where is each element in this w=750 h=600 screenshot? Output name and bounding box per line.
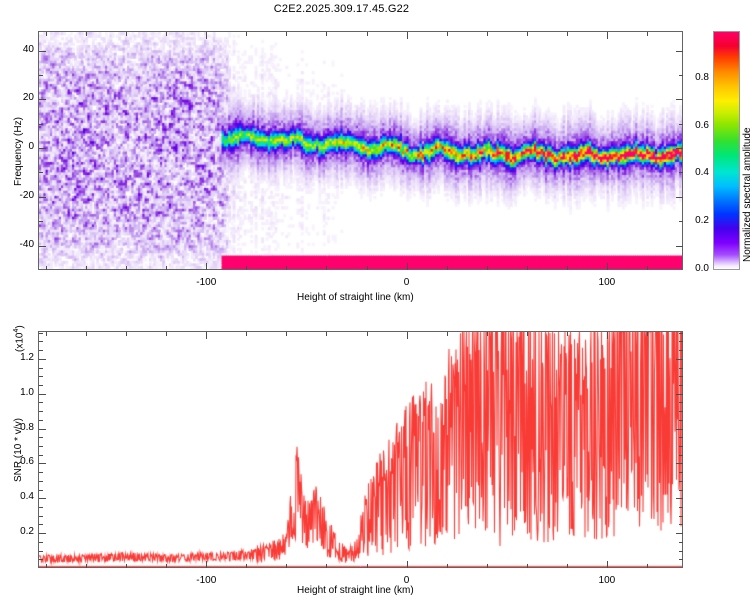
- spectrogram-ytick-left: [39, 221, 43, 222]
- snr-xtick-bottom: [86, 564, 87, 568]
- snr-ytick-left: [39, 463, 46, 464]
- snr-ytick-right: [679, 516, 683, 517]
- snr-xtick-bottom: [166, 564, 167, 568]
- figure-root: C2E2.2025.309.17.45.G22 Frequency (Hz) H…: [0, 0, 750, 600]
- snr-ytick-right: [679, 333, 683, 334]
- snr-xtick-top: [246, 332, 247, 336]
- colorbar-label: Normalized spectral amplitude: [742, 127, 750, 262]
- spectrogram-ytick-label: 20: [0, 92, 34, 103]
- snr-xtick-bottom: [647, 564, 648, 568]
- spectrogram-xtick-top: [647, 32, 648, 36]
- spectrogram-ytick-left: [39, 75, 43, 76]
- spectrogram-ytick-label: 40: [0, 44, 34, 55]
- spectrogram-xtick-bottom: [567, 266, 568, 270]
- snr-xtick-top: [166, 332, 167, 336]
- colorbar-tick-label: 0.8: [681, 72, 709, 83]
- spectrogram-xtick-top: [447, 32, 448, 36]
- snr-xtick-bottom: [206, 561, 207, 568]
- spectrogram-image: [39, 32, 682, 269]
- spectrogram-ytick-label: 0: [0, 141, 34, 152]
- spectrogram-panel: [38, 31, 683, 270]
- spectrogram-ytick-label: -40: [0, 239, 34, 250]
- snr-xtick-top: [126, 332, 127, 336]
- snr-ytick-label: 0.2: [0, 526, 34, 537]
- spectrogram-ytick-left: [39, 197, 46, 198]
- snr-ytick-right: [676, 498, 683, 499]
- spectrogram-ytick-left: [39, 246, 46, 247]
- spectrogram-ytick-right: [676, 246, 683, 247]
- snr-ytick-left: [39, 385, 43, 386]
- snr-xtick-bottom: [286, 564, 287, 568]
- snr-ytick-left: [39, 559, 43, 560]
- snr-ytick-right: [679, 507, 683, 508]
- multiplier-exponent: 4: [13, 329, 20, 333]
- snr-xtick-bottom: [527, 564, 528, 568]
- snr-ytick-left: [39, 472, 43, 473]
- spectrogram-xtick-top: [246, 32, 247, 36]
- multiplier-close: ): [14, 325, 25, 328]
- snr-ytick-left: [39, 507, 43, 508]
- snr-xtick-bottom: [447, 564, 448, 568]
- colorbar-tick-label: 0.0: [681, 263, 709, 274]
- snr-ytick-left: [39, 394, 46, 395]
- spectrogram-xtick-bottom: [126, 266, 127, 270]
- snr-ytick-left: [39, 420, 43, 421]
- spectrogram-ytick-label: -20: [0, 190, 34, 201]
- spectrogram-xtick-bottom: [326, 266, 327, 270]
- spectrogram-xtick-label: -100: [186, 277, 226, 288]
- spectrogram-xtick-label: 100: [587, 277, 627, 288]
- snr-ytick-left: [39, 516, 43, 517]
- snr-ytick-right: [679, 490, 683, 491]
- page-title: C2E2.2025.309.17.45.G22: [0, 3, 683, 15]
- spectrogram-ytick-right: [676, 51, 683, 52]
- snr-ytick-right: [676, 463, 683, 464]
- snr-ytick-left: [39, 437, 43, 438]
- snr-ytick-left: [39, 368, 43, 369]
- spectrogram-ytick-right: [676, 148, 683, 149]
- snr-xtick-bottom: [326, 564, 327, 568]
- snr-ytick-right: [679, 551, 683, 552]
- spectrogram-xtick-top: [286, 32, 287, 36]
- spectrogram-ytick-left: [39, 148, 46, 149]
- snr-trace: [39, 332, 682, 567]
- spectrogram-xtick-top: [206, 32, 207, 39]
- multiplier-base: (x10: [14, 333, 25, 352]
- spectrogram-xtick-top: [367, 32, 368, 36]
- snr-ytick-right: [679, 455, 683, 456]
- spectrogram-xtick-bottom: [46, 266, 47, 270]
- snr-xtick-top: [286, 332, 287, 336]
- snr-xtick-bottom: [246, 564, 247, 568]
- colorbar: [713, 31, 740, 270]
- snr-ytick-left: [39, 446, 43, 447]
- snr-ytick-right: [679, 446, 683, 447]
- snr-xtick-top: [567, 332, 568, 336]
- spectrogram-xtick-top: [407, 32, 408, 39]
- snr-ytick-left: [39, 359, 46, 360]
- snr-ytick-right: [679, 481, 683, 482]
- spectrogram-xtick-top: [326, 32, 327, 36]
- snr-ytick-left: [39, 524, 43, 525]
- spectrogram-xtick-bottom: [166, 266, 167, 270]
- snr-xtick-top: [447, 332, 448, 336]
- spectrogram-ytick-right: [676, 99, 683, 100]
- snr-ytick-left: [39, 429, 46, 430]
- snr-ytick-left: [39, 481, 43, 482]
- snr-ytick-right: [679, 472, 683, 473]
- snr-x-axis-label: Height of straight line (km): [297, 585, 414, 596]
- snr-ytick-label: 0.8: [0, 422, 34, 433]
- spectrogram-xtick-bottom: [447, 266, 448, 270]
- snr-ytick-right: [679, 341, 683, 342]
- spectrogram-xtick-top: [487, 32, 488, 36]
- snr-ytick-label: 0.4: [0, 491, 34, 502]
- snr-ytick-left: [39, 490, 43, 491]
- spectrogram-xtick-bottom: [487, 266, 488, 270]
- snr-xtick-top: [86, 332, 87, 336]
- spectrogram-xtick-bottom: [206, 263, 207, 270]
- spectrogram-xtick-bottom: [407, 263, 408, 270]
- spectrogram-xtick-bottom: [527, 266, 528, 270]
- colorbar-tick-label: 0.2: [681, 215, 709, 226]
- snr-ytick-right: [679, 350, 683, 351]
- snr-xtick-top: [647, 332, 648, 336]
- snr-xtick-top: [326, 332, 327, 336]
- colorbar-tick-label: 0.6: [681, 120, 709, 131]
- spectrogram-xtick-top: [166, 32, 167, 36]
- snr-ytick-right: [679, 402, 683, 403]
- snr-ytick-left: [39, 333, 43, 334]
- spectrogram-xtick-top: [46, 32, 47, 36]
- snr-ytick-right: [679, 376, 683, 377]
- snr-ytick-left: [39, 411, 43, 412]
- spectrogram-ytick-left: [39, 172, 43, 173]
- snr-panel: [38, 331, 683, 568]
- snr-ytick-label: 0.6: [0, 456, 34, 467]
- snr-xtick-bottom: [607, 561, 608, 568]
- snr-ytick-right: [679, 524, 683, 525]
- spectrogram-x-axis-label: Height of straight line (km): [297, 292, 414, 303]
- spectrogram-xtick-bottom: [246, 266, 247, 270]
- snr-ytick-left: [39, 402, 43, 403]
- snr-ytick-left: [39, 551, 43, 552]
- snr-ytick-right: [679, 542, 683, 543]
- spectrogram-xtick-bottom: [647, 266, 648, 270]
- snr-ytick-right: [679, 411, 683, 412]
- snr-xtick-label: 100: [587, 575, 627, 586]
- spectrogram-xtick-label: 0: [387, 277, 427, 288]
- snr-ytick-right: [676, 533, 683, 534]
- snr-xtick-bottom: [487, 564, 488, 568]
- snr-xtick-bottom: [46, 564, 47, 568]
- spectrogram-xtick-bottom: [607, 263, 608, 270]
- snr-ytick-right: [679, 385, 683, 386]
- spectrogram-ytick-left: [39, 51, 46, 52]
- snr-xtick-bottom: [367, 564, 368, 568]
- snr-ytick-label: 1.0: [0, 387, 34, 398]
- snr-xtick-top: [206, 332, 207, 339]
- snr-xtick-top: [46, 332, 47, 336]
- snr-xtick-top: [367, 332, 368, 336]
- snr-ytick-left: [39, 533, 46, 534]
- snr-xtick-top: [607, 332, 608, 339]
- snr-ytick-left: [39, 350, 43, 351]
- snr-ytick-right: [676, 394, 683, 395]
- snr-ytick-left: [39, 455, 43, 456]
- snr-ytick-left: [39, 341, 43, 342]
- colorbar-tick-label: 0.4: [681, 167, 709, 178]
- snr-xtick-top: [527, 332, 528, 336]
- snr-xtick-bottom: [567, 564, 568, 568]
- snr-xtick-label: -100: [186, 575, 226, 586]
- spectrogram-ytick-left: [39, 124, 43, 125]
- spectrogram-ytick-right: [676, 197, 683, 198]
- snr-xtick-label: 0: [387, 575, 427, 586]
- snr-ytick-left: [39, 498, 46, 499]
- snr-ytick-left: [39, 542, 43, 543]
- snr-ytick-right: [676, 359, 683, 360]
- spectrogram-xtick-bottom: [367, 266, 368, 270]
- spectrogram-xtick-top: [126, 32, 127, 36]
- snr-xtick-top: [407, 332, 408, 339]
- spectrogram-xtick-top: [86, 32, 87, 36]
- snr-ytick-right: [679, 420, 683, 421]
- snr-xtick-top: [487, 332, 488, 336]
- spectrogram-ytick-left: [39, 99, 46, 100]
- spectrogram-xtick-top: [527, 32, 528, 36]
- snr-xtick-bottom: [126, 564, 127, 568]
- snr-ytick-left: [39, 376, 43, 377]
- snr-ytick-right: [679, 368, 683, 369]
- snr-y-axis-multiplier: (x104): [13, 325, 25, 352]
- spectrogram-xtick-top: [607, 32, 608, 39]
- spectrogram-xtick-bottom: [86, 266, 87, 270]
- snr-ytick-right: [676, 429, 683, 430]
- spectrogram-xtick-bottom: [286, 266, 287, 270]
- snr-ytick-label: 1.2: [0, 352, 34, 363]
- snr-xtick-bottom: [407, 561, 408, 568]
- snr-ytick-right: [679, 437, 683, 438]
- snr-ytick-right: [679, 559, 683, 560]
- spectrogram-xtick-top: [567, 32, 568, 36]
